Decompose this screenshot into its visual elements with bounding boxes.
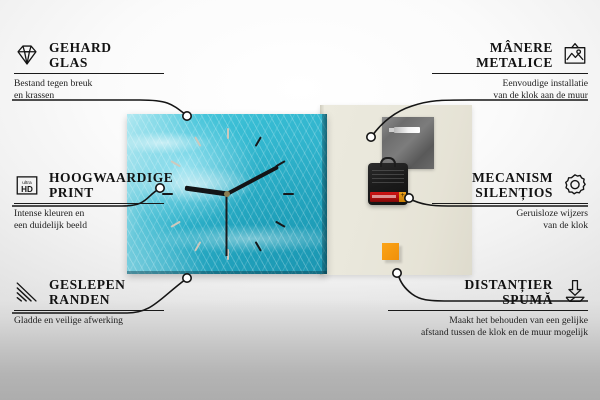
callout-desc-line2: afstand tussen de klok en de muur mogeli… [388, 327, 588, 339]
callout-title: HOOGWAARDIGE PRINT [49, 170, 173, 200]
callout-title-line2: METALICE [432, 55, 553, 70]
callout-desc-line1: Geruisloze wijzers [432, 208, 588, 220]
callout-rule [14, 203, 164, 204]
callout-rule [388, 310, 588, 311]
callout-title-line2: GLAS [49, 55, 112, 70]
callout-title-line1: GEHARD [49, 40, 112, 55]
glass-right-edge [322, 114, 327, 274]
second-hand [226, 194, 228, 256]
callout-title-line1: MÂNERE [432, 40, 553, 55]
hour-tick [227, 128, 229, 139]
hour-hand [184, 186, 227, 197]
callout-title: MÂNERE METALICE [432, 40, 553, 70]
callout-desc-line1: Intense kleuren en [14, 208, 164, 220]
battery-plus-sign: + [400, 193, 405, 198]
ultra-hd-icon: ultra HD [14, 172, 40, 198]
callout-header: GESLEPEN RANDEN [14, 277, 164, 307]
callout-gehard-glas: GEHARD GLAS Bestand tegen breuk en krass… [14, 40, 164, 102]
beveled-edges-icon [14, 279, 40, 305]
gear-icon [562, 172, 588, 198]
ultra-hd-icon-bottom-label: HD [21, 185, 33, 194]
callout-distantier-spuma: DISTANȚIER SPUMĂ Maakt het behouden van … [388, 277, 588, 339]
callout-desc-line2: een duidelijk beeld [14, 220, 164, 232]
callout-manere-metalice: MÂNERE METALICE Eenvoudige installatie v… [432, 40, 588, 102]
callout-rule [432, 203, 588, 204]
hour-tick [194, 241, 201, 252]
foam-spacer [382, 243, 399, 260]
callout-desc-line1: Bestand tegen breuk [14, 78, 164, 90]
diamond-icon [14, 42, 40, 68]
callout-title: MECANISM SILENȚIOS [432, 170, 553, 200]
callout-rule [14, 73, 164, 74]
callout-mecanism-silentios: MECANISM SILENȚIOS Geruisloze wijzers va… [432, 170, 588, 232]
callout-desc-line1: Eenvoudige installatie [432, 78, 588, 90]
callout-title-line2: SILENȚIOS [432, 185, 553, 200]
callout-desc-line2: van de klok [432, 220, 588, 232]
callout-geslepen-randen: GESLEPEN RANDEN Gladde en veilige afwerk… [14, 277, 164, 327]
callout-desc-line2: en krassen [14, 90, 164, 102]
callout-desc-line1: Gladde en veilige afwerking [14, 315, 164, 327]
picture-frame-hook-icon [562, 42, 588, 68]
callout-hoogwaardige-print: ultra HD HOOGWAARDIGE PRINT Intense kleu… [14, 170, 164, 232]
minute-hand [226, 165, 279, 196]
callout-desc-line2: van de klok aan de muur [432, 90, 588, 102]
callout-rule [14, 310, 164, 311]
hour-tick [194, 136, 201, 147]
callout-desc-line1: Maakt het behouden van een gelijke [388, 315, 588, 327]
callout-title-line2: SPUMĂ [388, 292, 553, 307]
clock-hub [224, 191, 230, 197]
callout-title: GEHARD GLAS [49, 40, 112, 70]
spacer-arrow-icon [562, 279, 588, 305]
hour-tick [170, 160, 181, 167]
movement-label [372, 170, 404, 184]
callout-title-line1: HOOGWAARDIGE [49, 170, 173, 185]
callout-header: DISTANȚIER SPUMĂ [388, 277, 588, 307]
callout-title-line1: MECANISM [432, 170, 553, 185]
callout-rule [432, 73, 588, 74]
callout-title: GESLEPEN RANDEN [49, 277, 125, 307]
hanger-slot [394, 127, 420, 133]
hour-tick [255, 241, 262, 252]
callout-title: DISTANȚIER SPUMĂ [388, 277, 553, 307]
callout-title-line2: PRINT [49, 185, 173, 200]
hour-tick [170, 221, 181, 228]
movement-hanger-loop [380, 157, 396, 167]
callout-header: MÂNERE METALICE [432, 40, 588, 70]
callout-title-line1: GESLEPEN [49, 277, 125, 292]
callout-header: MECANISM SILENȚIOS [432, 170, 588, 200]
battery: + [370, 192, 406, 202]
hour-tick [275, 221, 286, 228]
glass-bottom-edge [127, 271, 327, 274]
clock-movement: + [368, 163, 408, 205]
battery-stripe [372, 195, 396, 198]
callout-header: ultra HD HOOGWAARDIGE PRINT [14, 170, 164, 200]
callout-header: GEHARD GLAS [14, 40, 164, 70]
hour-tick [283, 193, 294, 195]
callout-title-line1: DISTANȚIER [388, 277, 553, 292]
hour-tick [255, 136, 262, 147]
infographic-stage: + [0, 0, 600, 400]
callout-title-line2: RANDEN [49, 292, 125, 307]
product-image-group: + [127, 105, 472, 277]
